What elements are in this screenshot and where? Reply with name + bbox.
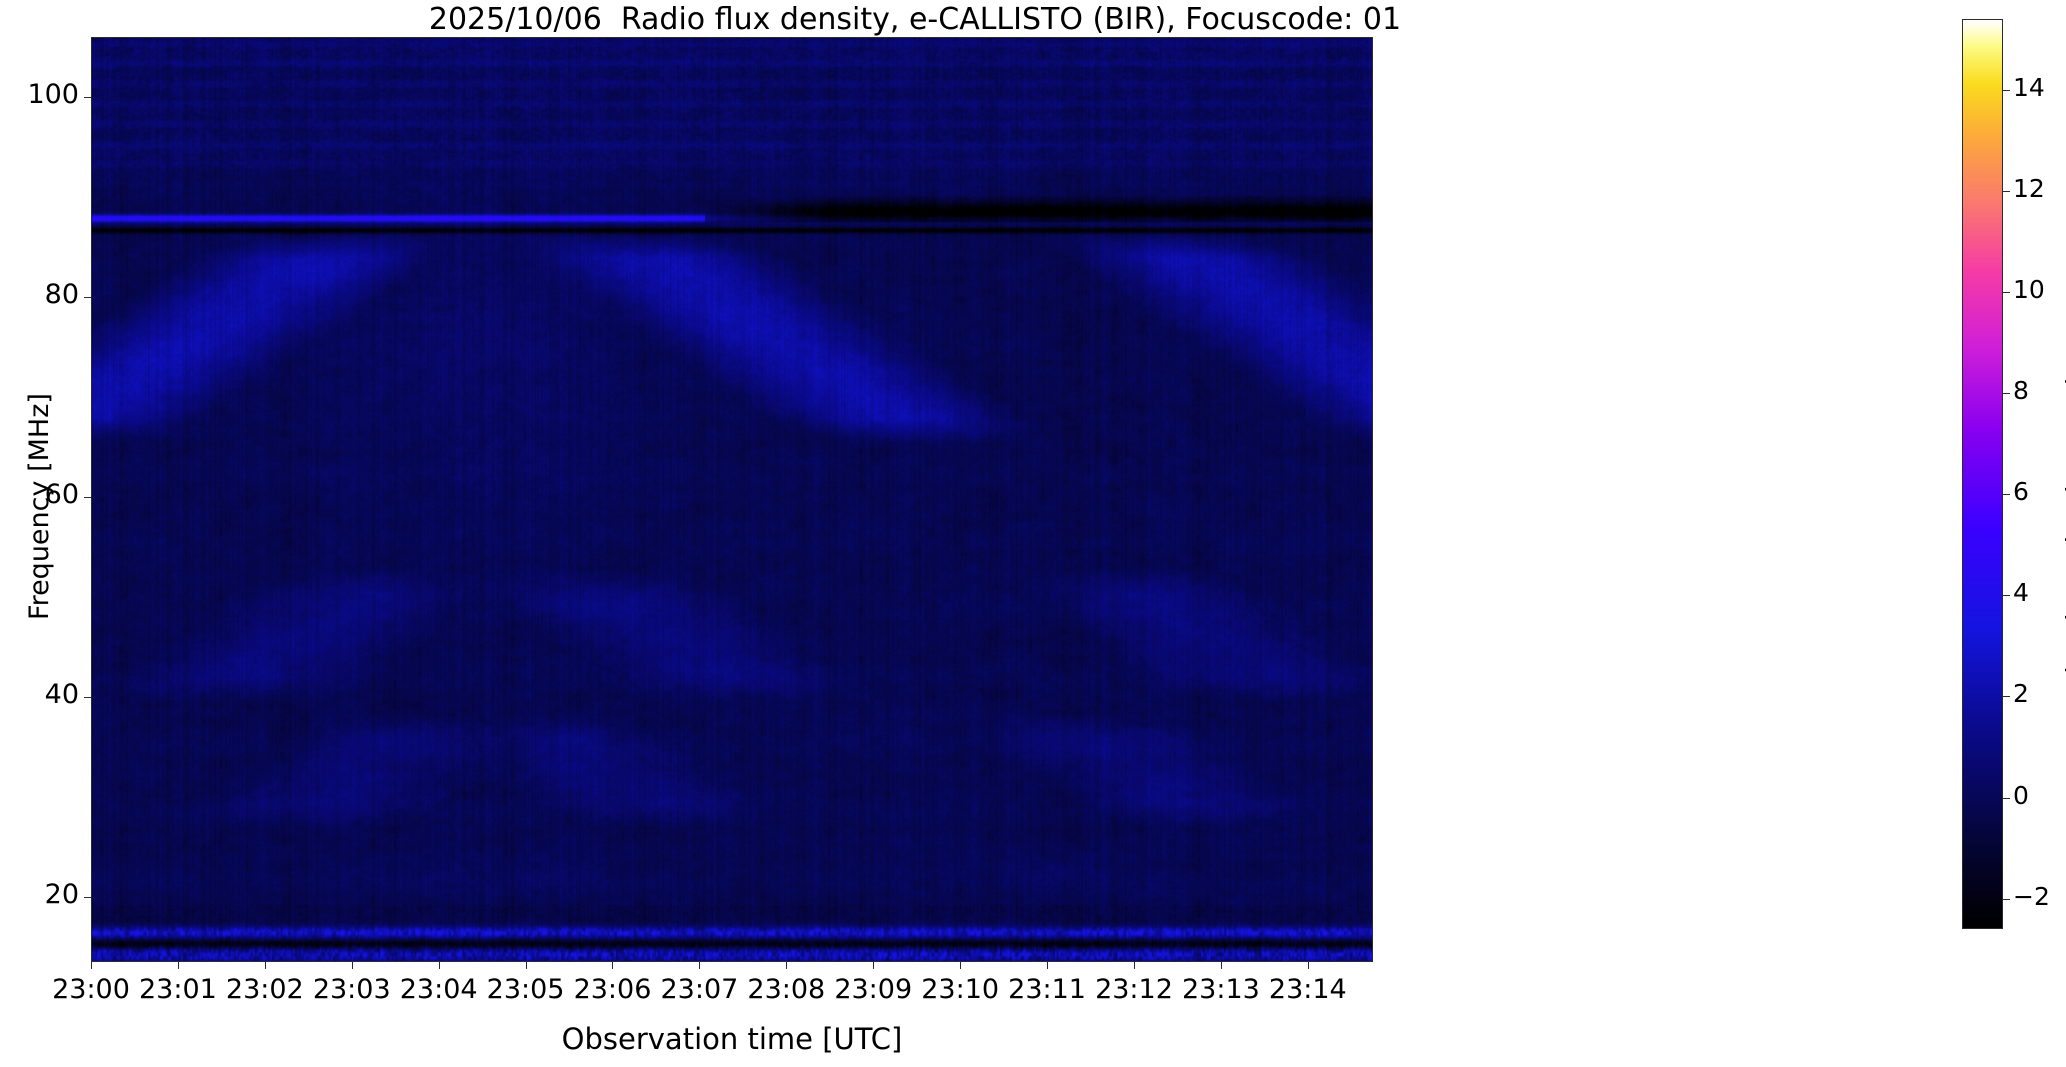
x-axis-tick-label: 23:06 xyxy=(574,974,652,1005)
colorbar-tick-mark xyxy=(2003,191,2010,192)
colorbar-title: dB above background xyxy=(2060,378,2066,684)
x-axis-tick-mark xyxy=(265,962,266,969)
colorbar-tick-mark xyxy=(2003,292,2010,293)
x-axis-tick-mark xyxy=(91,962,92,969)
x-axis-tick-label: 23:11 xyxy=(1008,974,1086,1005)
colorbar xyxy=(1962,19,2003,929)
colorbar-tick-label: −2 xyxy=(2013,882,2050,911)
x-axis-tick-mark xyxy=(526,962,527,969)
y-axis-tick-label: 100 xyxy=(27,79,79,110)
colorbar-tick-label: 8 xyxy=(2013,376,2029,405)
colorbar-tick-label: 6 xyxy=(2013,477,2029,506)
x-axis-tick-mark xyxy=(873,962,874,969)
colorbar-tick-label: 4 xyxy=(2013,578,2029,607)
y-axis-tick-label: 20 xyxy=(45,879,79,910)
x-axis-tick-mark xyxy=(352,962,353,969)
colorbar-tick-mark xyxy=(2003,494,2010,495)
y-axis-tick-mark xyxy=(84,497,91,498)
colorbar-tick-mark xyxy=(2003,595,2010,596)
x-axis-tick-mark xyxy=(612,962,613,969)
y-axis-tick-label: 80 xyxy=(45,279,79,310)
x-axis-tick-mark xyxy=(1221,962,1222,969)
y-axis-tick-mark xyxy=(84,897,91,898)
page-title: 2025/10/06 Radio flux density, e-CALLIST… xyxy=(0,2,1830,37)
x-axis-tick-label: 23:08 xyxy=(747,974,825,1005)
x-axis-tick-mark xyxy=(1134,962,1135,969)
y-axis-title: Frequency [MHz] xyxy=(24,393,55,620)
x-axis-tick-label: 23:14 xyxy=(1269,974,1347,1005)
y-axis-tick-label: 40 xyxy=(45,679,79,710)
x-axis-tick-label: 23:09 xyxy=(834,974,912,1005)
x-axis-tick-mark xyxy=(960,962,961,969)
x-axis-tick-label: 23:05 xyxy=(487,974,565,1005)
colorbar-tick-mark xyxy=(2003,899,2010,900)
x-axis-tick-mark xyxy=(178,962,179,969)
x-axis-tick-label: 23:04 xyxy=(400,974,478,1005)
x-axis-tick-mark xyxy=(699,962,700,969)
colorbar-tick-mark xyxy=(2003,798,2010,799)
colorbar-tick-label: 12 xyxy=(2013,174,2045,203)
spectrogram-plot-area xyxy=(91,37,1373,962)
spectrogram-figure: 2025/10/06 Radio flux density, e-CALLIST… xyxy=(0,0,2066,1067)
colorbar-tick-mark xyxy=(2003,90,2010,91)
x-axis-tick-mark xyxy=(439,962,440,969)
x-axis-tick-label: 23:13 xyxy=(1182,974,1260,1005)
x-axis-tick-label: 23:01 xyxy=(139,974,217,1005)
x-axis-tick-label: 23:07 xyxy=(661,974,739,1005)
y-axis-tick-mark xyxy=(84,297,91,298)
colorbar-tick-mark xyxy=(2003,393,2010,394)
x-axis-tick-label: 23:00 xyxy=(52,974,130,1005)
dynamic-spectrum-canvas xyxy=(92,38,1373,962)
x-axis-tick-mark xyxy=(786,962,787,969)
colorbar-tick-mark xyxy=(2003,696,2010,697)
x-axis-tick-mark xyxy=(1308,962,1309,969)
colorbar-tick-label: 2 xyxy=(2013,679,2029,708)
x-axis-tick-label: 23:10 xyxy=(921,974,999,1005)
colorbar-tick-label: 10 xyxy=(2013,275,2045,304)
y-axis-tick-mark xyxy=(84,97,91,98)
y-axis-tick-mark xyxy=(84,697,91,698)
colorbar-tick-label: 14 xyxy=(2013,73,2045,102)
colorbar-tick-label: 0 xyxy=(2013,781,2029,810)
colorbar-gradient xyxy=(1963,20,2002,928)
x-axis-tick-label: 23:03 xyxy=(313,974,391,1005)
x-axis-tick-mark xyxy=(1047,962,1048,969)
x-axis-tick-label: 23:02 xyxy=(226,974,304,1005)
x-axis-title: Observation time [UTC] xyxy=(91,1022,1373,1056)
x-axis-tick-label: 23:12 xyxy=(1095,974,1173,1005)
